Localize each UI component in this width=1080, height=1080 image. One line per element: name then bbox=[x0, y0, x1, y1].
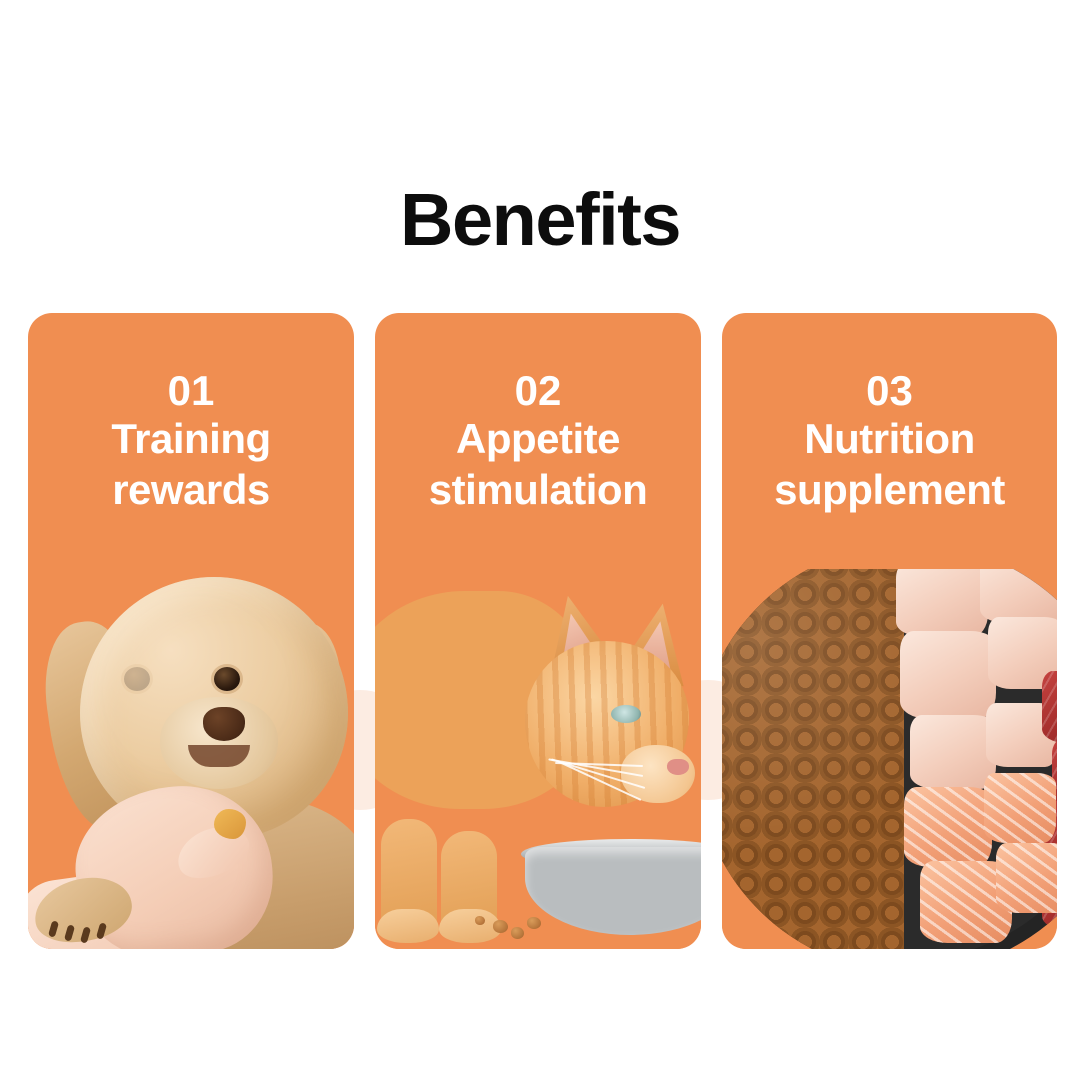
kibble-and-raw-meat-bowl-photo bbox=[722, 569, 1057, 949]
benefit-card-header: 03 Nutrition supplement bbox=[722, 313, 1057, 516]
benefit-card-label-line1: Nutrition bbox=[722, 413, 1057, 465]
benefit-card-number: 03 bbox=[722, 370, 1057, 413]
benefit-card-label-line2: stimulation bbox=[375, 464, 701, 516]
benefit-card-label-line1: Appetite bbox=[375, 413, 701, 465]
page-title: Benefits bbox=[0, 183, 1080, 257]
benefit-card-training-rewards[interactable]: 01 Training rewards bbox=[28, 313, 354, 949]
benefit-card-number: 01 bbox=[28, 370, 354, 413]
benefit-card-header: 02 Appetite stimulation bbox=[375, 313, 701, 516]
benefit-card-header: 01 Training rewards bbox=[28, 313, 354, 516]
benefit-card-label-line2: supplement bbox=[722, 464, 1057, 516]
benefit-cards-row: 01 Training rewards bbox=[0, 313, 1080, 949]
poodle-treat-photo bbox=[28, 569, 354, 949]
benefit-card-label-line1: Training bbox=[28, 413, 354, 465]
benefit-card-nutrition-supplement[interactable]: 03 Nutrition supplement bbox=[722, 313, 1057, 949]
benefit-card-appetite-stimulation[interactable]: 02 Appetite stimulation bbox=[375, 313, 701, 949]
cat-eating-photo bbox=[375, 569, 701, 949]
benefits-infographic: Benefits 01 Training rewards bbox=[0, 0, 1080, 1080]
benefit-card-label-line2: rewards bbox=[28, 464, 354, 516]
benefit-card-number: 02 bbox=[375, 370, 701, 413]
